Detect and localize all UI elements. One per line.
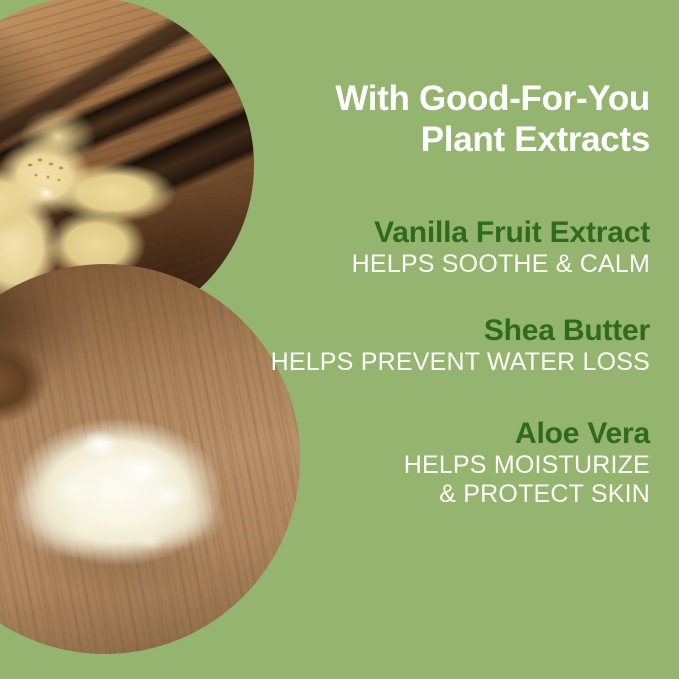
ingredient-vanilla-name: Vanilla Fruit Extract bbox=[244, 216, 650, 250]
page-title: With Good-For-You Plant Extracts bbox=[244, 79, 650, 161]
text-column: With Good-For-You Plant Extracts Vanilla… bbox=[244, 0, 650, 679]
ingredient-shea-butter: Shea Butter HELPS PREVENT WATER LOSS bbox=[244, 314, 650, 377]
ingredient-aloe-vera: Aloe Vera HELPS MOISTURIZE & PROTECT SKI… bbox=[244, 417, 650, 510]
product-ingredient-infographic: With Good-For-You Plant Extracts Vanilla… bbox=[0, 0, 679, 679]
ingredient-aloe-vera-benefit-line-2: & PROTECT SKIN bbox=[244, 480, 650, 510]
headline-line-2: Plant Extracts bbox=[244, 120, 650, 161]
ingredient-vanilla-benefit-line-1: HELPS SOOTHE & CALM bbox=[244, 250, 650, 280]
ingredient-shea-butter-name: Shea Butter bbox=[244, 314, 650, 348]
ingredient-aloe-vera-name: Aloe Vera bbox=[244, 417, 650, 451]
ingredient-aloe-vera-benefit-line-1: HELPS MOISTURIZE bbox=[244, 451, 650, 481]
ingredient-shea-butter-benefit-line-1: HELPS PREVENT WATER LOSS bbox=[244, 348, 650, 378]
ingredient-vanilla: Vanilla Fruit Extract HELPS SOOTHE & CAL… bbox=[244, 216, 650, 279]
headline-line-1: With Good-For-You bbox=[244, 79, 650, 120]
